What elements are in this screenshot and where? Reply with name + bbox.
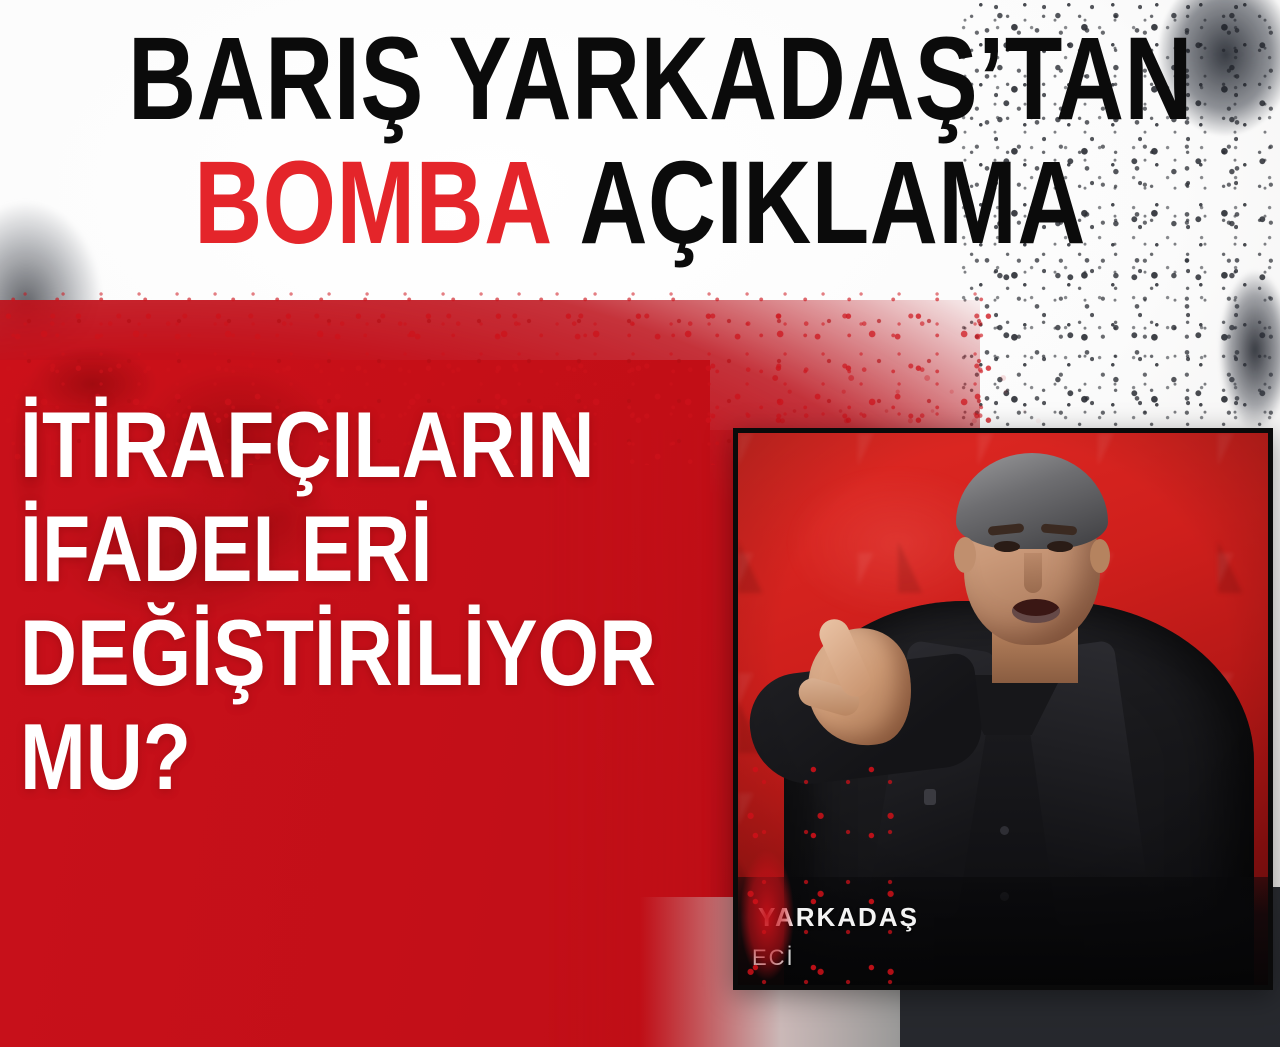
headline-block: BARIŞ YARKADAŞ’TAN BOMBA AÇIKLAMA (0, 22, 1280, 261)
headline-keyword-bomba: BOMBA (194, 137, 553, 269)
subheadline-line-1: İTİRAFÇILARIN (20, 398, 608, 492)
headline-word-aciklama: AÇIKLAMA (579, 137, 1086, 269)
news-thumbnail-poster: BARIŞ YARKADAŞ’TAN BOMBA AÇIKLAMA İTİRAF… (0, 0, 1280, 1047)
subject-photo: YARKADAŞ ECİ (733, 428, 1273, 990)
subheadline-line-2: İFADELERİ (20, 502, 608, 596)
subheadline-block: İTİRAFÇILARIN İFADELERİ DEĞİŞTİRİLİYOR M… (20, 398, 720, 814)
subheadline-line-4: MU? (20, 710, 608, 804)
red-splash-droplets-over-photo (738, 755, 908, 985)
headline-line-1: BARIŞ YARKADAŞ’TAN (128, 22, 1152, 138)
headline-line-2: BOMBA AÇIKLAMA (128, 146, 1152, 262)
subheadline-line-3: DEĞİŞTİRİLİYOR (20, 606, 608, 700)
